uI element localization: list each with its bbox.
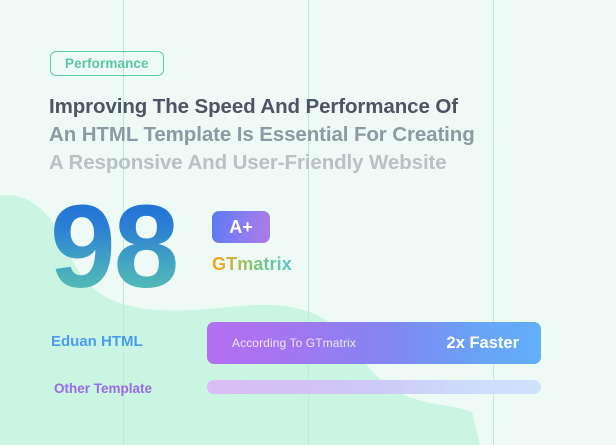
- gtmatrix-source-label: GTmatrix: [212, 254, 292, 275]
- bar-value-2x-faster: 2x Faster: [447, 334, 519, 353]
- performance-badge: Performance: [50, 51, 164, 76]
- bar-label-other-template: Other Template: [54, 381, 152, 396]
- performance-score-card: Performance Improving The Speed And Perf…: [0, 0, 616, 445]
- headline-line-1: Improving The Speed And Performance Of: [49, 93, 569, 121]
- bar-label-eduan-html: Eduan HTML: [51, 333, 143, 350]
- grade-badge-label: A+: [229, 217, 253, 238]
- grade-badge: A+: [212, 211, 270, 243]
- headline-line-2: An HTML Template Is Essential For Creati…: [49, 121, 569, 149]
- bar-eduan-html: According To GTmatrix 2x Faster: [207, 322, 541, 364]
- headline-line-3: A Responsive And User-Friendly Website: [49, 149, 569, 177]
- performance-score-value: 98: [50, 188, 177, 306]
- bar-caption-according-to-gtmatrix: According To GTmatrix: [232, 336, 356, 350]
- headline: Improving The Speed And Performance Of A…: [49, 93, 569, 177]
- bar-other-template: [207, 380, 541, 394]
- performance-badge-label: Performance: [65, 56, 149, 71]
